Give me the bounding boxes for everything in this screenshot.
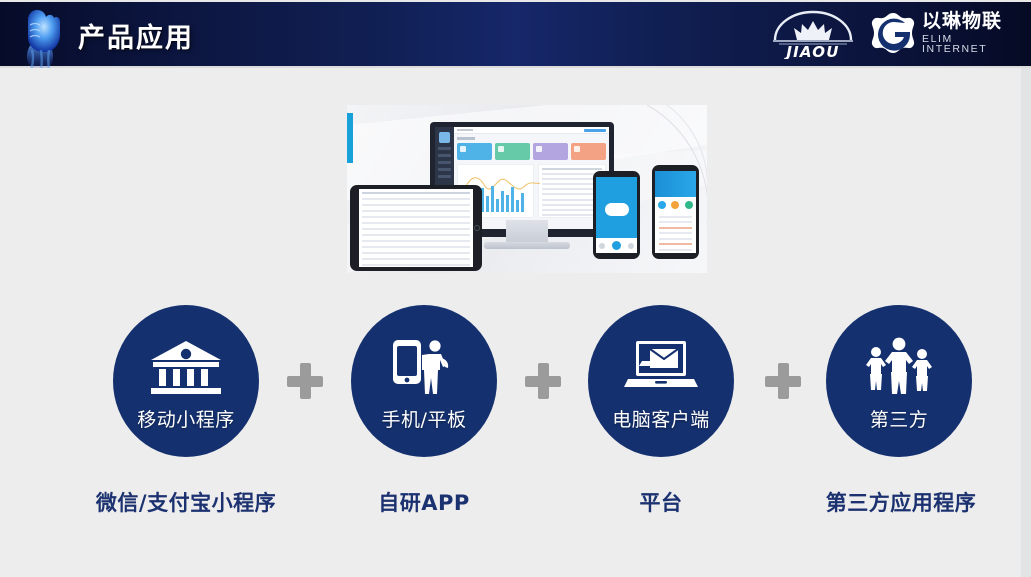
- node-label: 电脑客户端: [612, 405, 710, 432]
- page-title: 产品应用: [78, 16, 194, 55]
- phone-scan-bubble: [605, 203, 629, 216]
- glowing-fist-icon: [8, 0, 72, 68]
- people-group-icon: [859, 334, 939, 396]
- phone-white-screen: [655, 171, 696, 253]
- node-label: 手机/平板: [382, 405, 467, 432]
- node-phone-tablet[interactable]: 手机/平板: [351, 305, 497, 457]
- logo-jiaou-wordmark: JIAOU: [783, 43, 839, 59]
- monitor-stand-base: [484, 242, 570, 249]
- header-bottom-divider: [0, 66, 1031, 68]
- node-label: 移动小程序: [137, 405, 235, 432]
- node-third-party[interactable]: 第三方: [826, 305, 972, 457]
- tablet-table-screen: [359, 189, 473, 267]
- device-phone-blue: [593, 171, 640, 259]
- phone-person-icon: [387, 334, 461, 396]
- header-top-divider: [0, 0, 1031, 2]
- dashboard-logo-icon: [439, 132, 450, 143]
- logo-elim-en: ELIM INTERNET: [922, 34, 1019, 55]
- laptop-mail-icon: [622, 334, 700, 396]
- right-edge-strip: [1021, 68, 1031, 577]
- phone-tabbar: [596, 238, 637, 253]
- device-phone-white: [652, 165, 699, 259]
- dashboard-stat-cards: [457, 143, 606, 160]
- caption-row: 微信/支付宝小程序 自研APP 平台 第三方应用程序: [0, 487, 1031, 527]
- caption-third-party: 第三方应用程序: [771, 487, 1031, 517]
- caption-miniprogram: 微信/支付宝小程序: [56, 487, 316, 517]
- logo-elim-cn: 以琳物联: [922, 12, 1019, 31]
- caption-platform: 平台: [531, 487, 791, 517]
- node-mobile-miniprogram[interactable]: 移动小程序: [113, 305, 259, 457]
- plus-separator-3: [765, 363, 801, 399]
- g-hexagon-icon: [871, 11, 915, 55]
- logo-elim: 以琳物联 ELIM INTERNET: [871, 8, 1019, 58]
- caption-self-app: 自研APP: [294, 487, 554, 517]
- bank-building-icon: [149, 334, 223, 396]
- page-header: 产品应用 JIAOU 以琳物联 ELIM INTERNET: [0, 0, 1031, 68]
- phone-blue-screen: [596, 177, 637, 253]
- device-tablet: [350, 185, 482, 271]
- monitor-stand-neck: [506, 220, 548, 242]
- multi-device-mockup: [347, 105, 707, 273]
- phone-quick-icons: [655, 197, 696, 212]
- application-nodes-row: 移动小程序 手机/平板: [0, 305, 1031, 457]
- dashboard-topbar: [454, 127, 609, 134]
- node-desktop-client[interactable]: 电脑客户端: [588, 305, 734, 457]
- phone-banner: [655, 171, 696, 197]
- hero-accent-bar: [347, 113, 353, 163]
- logo-jiaou: JIAOU: [765, 7, 861, 59]
- plus-separator-2: [525, 363, 561, 399]
- tablet-home-button: [474, 225, 480, 231]
- plus-separator-1: [287, 363, 323, 399]
- node-label: 第三方: [870, 405, 929, 432]
